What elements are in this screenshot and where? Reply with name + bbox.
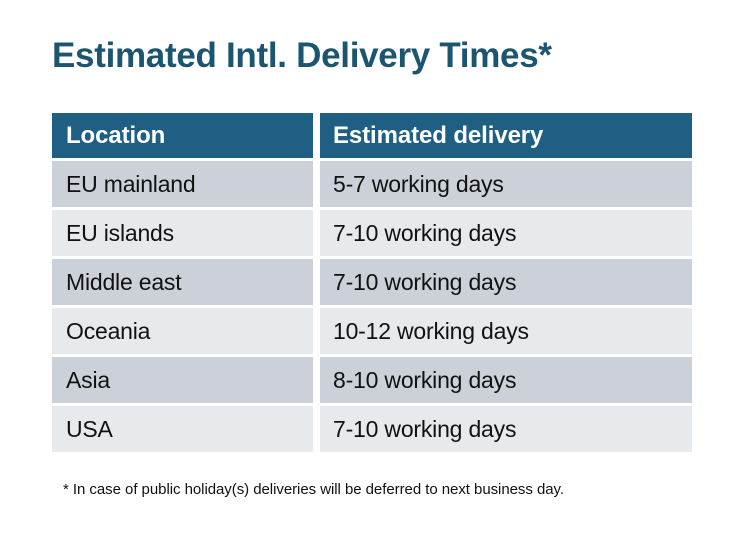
table-header-cell-delivery: Estimated delivery: [320, 113, 692, 158]
table-cell-delivery: 5-7 working days: [320, 161, 692, 207]
table-cell-delivery-value: 7-10 working days: [333, 416, 516, 443]
table-footnote: * In case of public holiday(s) deliverie…: [63, 481, 564, 498]
table-cell-delivery: 8-10 working days: [320, 357, 692, 403]
table-cell-delivery-value: 7-10 working days: [333, 269, 516, 296]
delivery-times-page: Estimated Intl. Delivery Times* Location…: [0, 0, 745, 536]
table-cell-delivery: 10-12 working days: [320, 308, 692, 354]
table-header-cell-location: Location: [52, 113, 313, 158]
table-cell-location: Asia: [52, 357, 313, 403]
table-header-row: Location Estimated delivery: [52, 113, 692, 158]
table-row: Oceania 10-12 working days: [52, 308, 692, 354]
table-row: EU islands 7-10 working days: [52, 210, 692, 256]
column-header-location-label: Location: [66, 122, 165, 150]
table-cell-delivery-value: 5-7 working days: [333, 171, 504, 198]
table-cell-location: EU islands: [52, 210, 313, 256]
table-row: USA 7-10 working days: [52, 406, 692, 452]
table-cell-delivery-value: 7-10 working days: [333, 220, 516, 247]
table-cell-location-value: Asia: [66, 367, 110, 394]
table-cell-location-value: Oceania: [66, 318, 150, 345]
page-title: Estimated Intl. Delivery Times*: [52, 37, 552, 76]
table-cell-location-value: EU islands: [66, 220, 174, 247]
table-cell-location: Oceania: [52, 308, 313, 354]
table-cell-delivery-value: 10-12 working days: [333, 318, 529, 345]
table-row: Asia 8-10 working days: [52, 357, 692, 403]
column-header-delivery-label: Estimated delivery: [333, 122, 543, 150]
table-cell-location: USA: [52, 406, 313, 452]
table-row: EU mainland 5-7 working days: [52, 161, 692, 207]
table-cell-location-value: Middle east: [66, 269, 181, 296]
table-cell-delivery: 7-10 working days: [320, 406, 692, 452]
table-row: Middle east 7-10 working days: [52, 259, 692, 305]
table-cell-delivery-value: 8-10 working days: [333, 367, 516, 394]
table-cell-location-value: USA: [66, 416, 113, 443]
table-cell-delivery: 7-10 working days: [320, 210, 692, 256]
estimated-delivery-times-table: Location Estimated delivery EU mainland …: [52, 113, 692, 452]
table-cell-location: Middle east: [52, 259, 313, 305]
table-cell-location: EU mainland: [52, 161, 313, 207]
table-cell-location-value: EU mainland: [66, 171, 195, 198]
table-cell-delivery: 7-10 working days: [320, 259, 692, 305]
